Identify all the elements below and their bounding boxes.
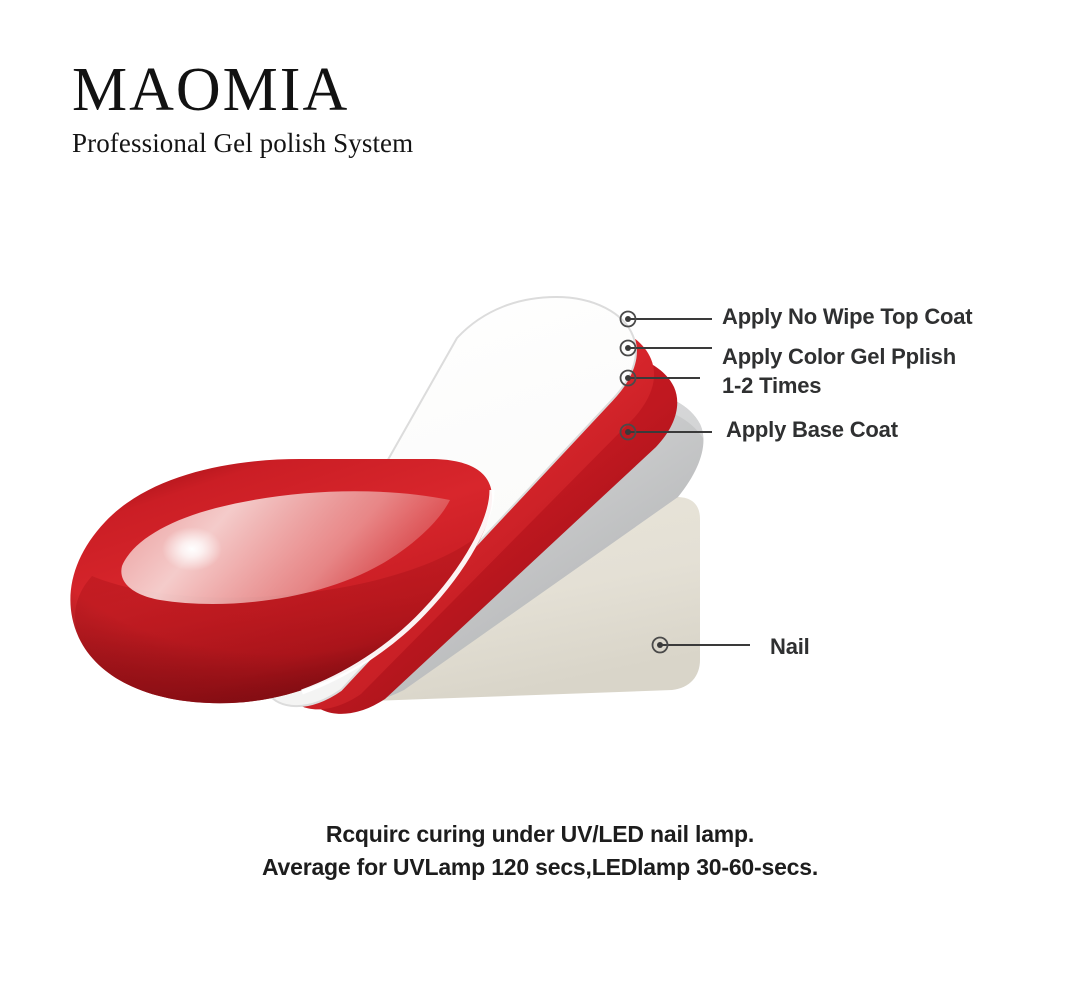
layer-base-coat bbox=[314, 390, 704, 705]
callout-marker-ring-times bbox=[621, 371, 636, 386]
callout-label-color-gel: Apply Color Gel Pplish bbox=[722, 344, 956, 370]
layer-nail bbox=[304, 497, 700, 703]
callout-label-top-coat: Apply No Wipe Top Coat bbox=[722, 304, 972, 330]
gel-polish-infographic: MAOMIA Professional Gel polish System bbox=[0, 0, 1080, 1000]
callout-label-nail: Nail bbox=[770, 634, 810, 660]
callout-marker-dot-times bbox=[625, 375, 631, 381]
callout-marker-dot-base-coat bbox=[625, 429, 631, 435]
callout-marker-ring-color-gel bbox=[621, 341, 636, 356]
layer-color-gel-second bbox=[307, 352, 677, 714]
callout-marker-ring-top-coat bbox=[621, 312, 636, 327]
callout-marker-ring-nail bbox=[653, 638, 668, 653]
callout-marker-dot-nail bbox=[657, 642, 663, 648]
footer-line-2: Average for UVLamp 120 secs,LEDlamp 30-6… bbox=[0, 851, 1080, 884]
layer-top-coat bbox=[264, 297, 636, 706]
brand-name: MAOMIA bbox=[72, 58, 532, 123]
footer-line-1: Rcquirc curing under UV/LED nail lamp. bbox=[0, 818, 1080, 851]
brand-tagline: Professional Gel polish System bbox=[72, 128, 532, 159]
callout-label-base-coat: Apply Base Coat bbox=[726, 417, 898, 443]
nail-tip-red bbox=[70, 459, 492, 703]
callout-marker-dot-color-gel bbox=[625, 345, 631, 351]
callout-marker-dot-top-coat bbox=[625, 316, 631, 322]
callout-marker-ring-base-coat bbox=[621, 425, 636, 440]
tip-seam bbox=[302, 490, 492, 692]
layer-color-gel bbox=[286, 322, 654, 709]
callout-label-times: 1-2 Times bbox=[722, 373, 821, 399]
brand-block: MAOMIA Professional Gel polish System bbox=[72, 58, 532, 159]
footer-note: Rcquirc curing under UV/LED nail lamp. A… bbox=[0, 818, 1080, 883]
